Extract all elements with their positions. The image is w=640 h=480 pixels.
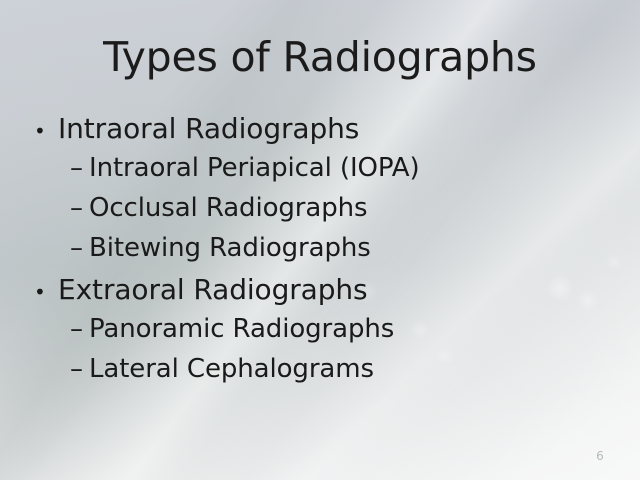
list-item-label: Extraoral Radiographs [58,273,368,306]
bullet-marker-icon: • [34,121,58,141]
slide-content: Types of Radiographs • Intraoral Radiogr… [0,0,640,480]
dash-marker-icon: – [70,195,89,221]
list-item-label: Panoramic Radiographs [89,314,394,344]
dash-marker-icon: – [70,155,89,181]
list-item-label: Bitewing Radiographs [89,233,371,263]
dash-marker-icon: – [70,356,89,382]
list-item: – Bitewing Radiographs [0,233,640,273]
bullet-list: • Intraoral Radiographs – Intraoral Peri… [0,112,640,394]
list-item-label: Lateral Cephalograms [89,354,374,384]
list-item: – Panoramic Radiographs [0,314,640,354]
list-item: • Intraoral Radiographs [0,112,640,153]
list-item: – Occlusal Radiographs [0,193,640,233]
list-item-label: Occlusal Radiographs [89,193,367,223]
list-item: • Extraoral Radiographs [0,273,640,314]
dash-marker-icon: – [70,316,89,342]
list-item-label: Intraoral Periapical (IOPA) [89,153,420,183]
bullet-marker-icon: • [34,282,58,302]
dash-marker-icon: – [70,235,89,261]
list-item: – Intraoral Periapical (IOPA) [0,153,640,193]
slide-title: Types of Radiographs [0,33,640,81]
presentation-slide: Types of Radiographs • Intraoral Radiogr… [0,0,640,480]
list-item-label: Intraoral Radiographs [58,112,359,145]
slide-number: 6 [590,449,610,463]
list-item: – Lateral Cephalograms [0,354,640,394]
